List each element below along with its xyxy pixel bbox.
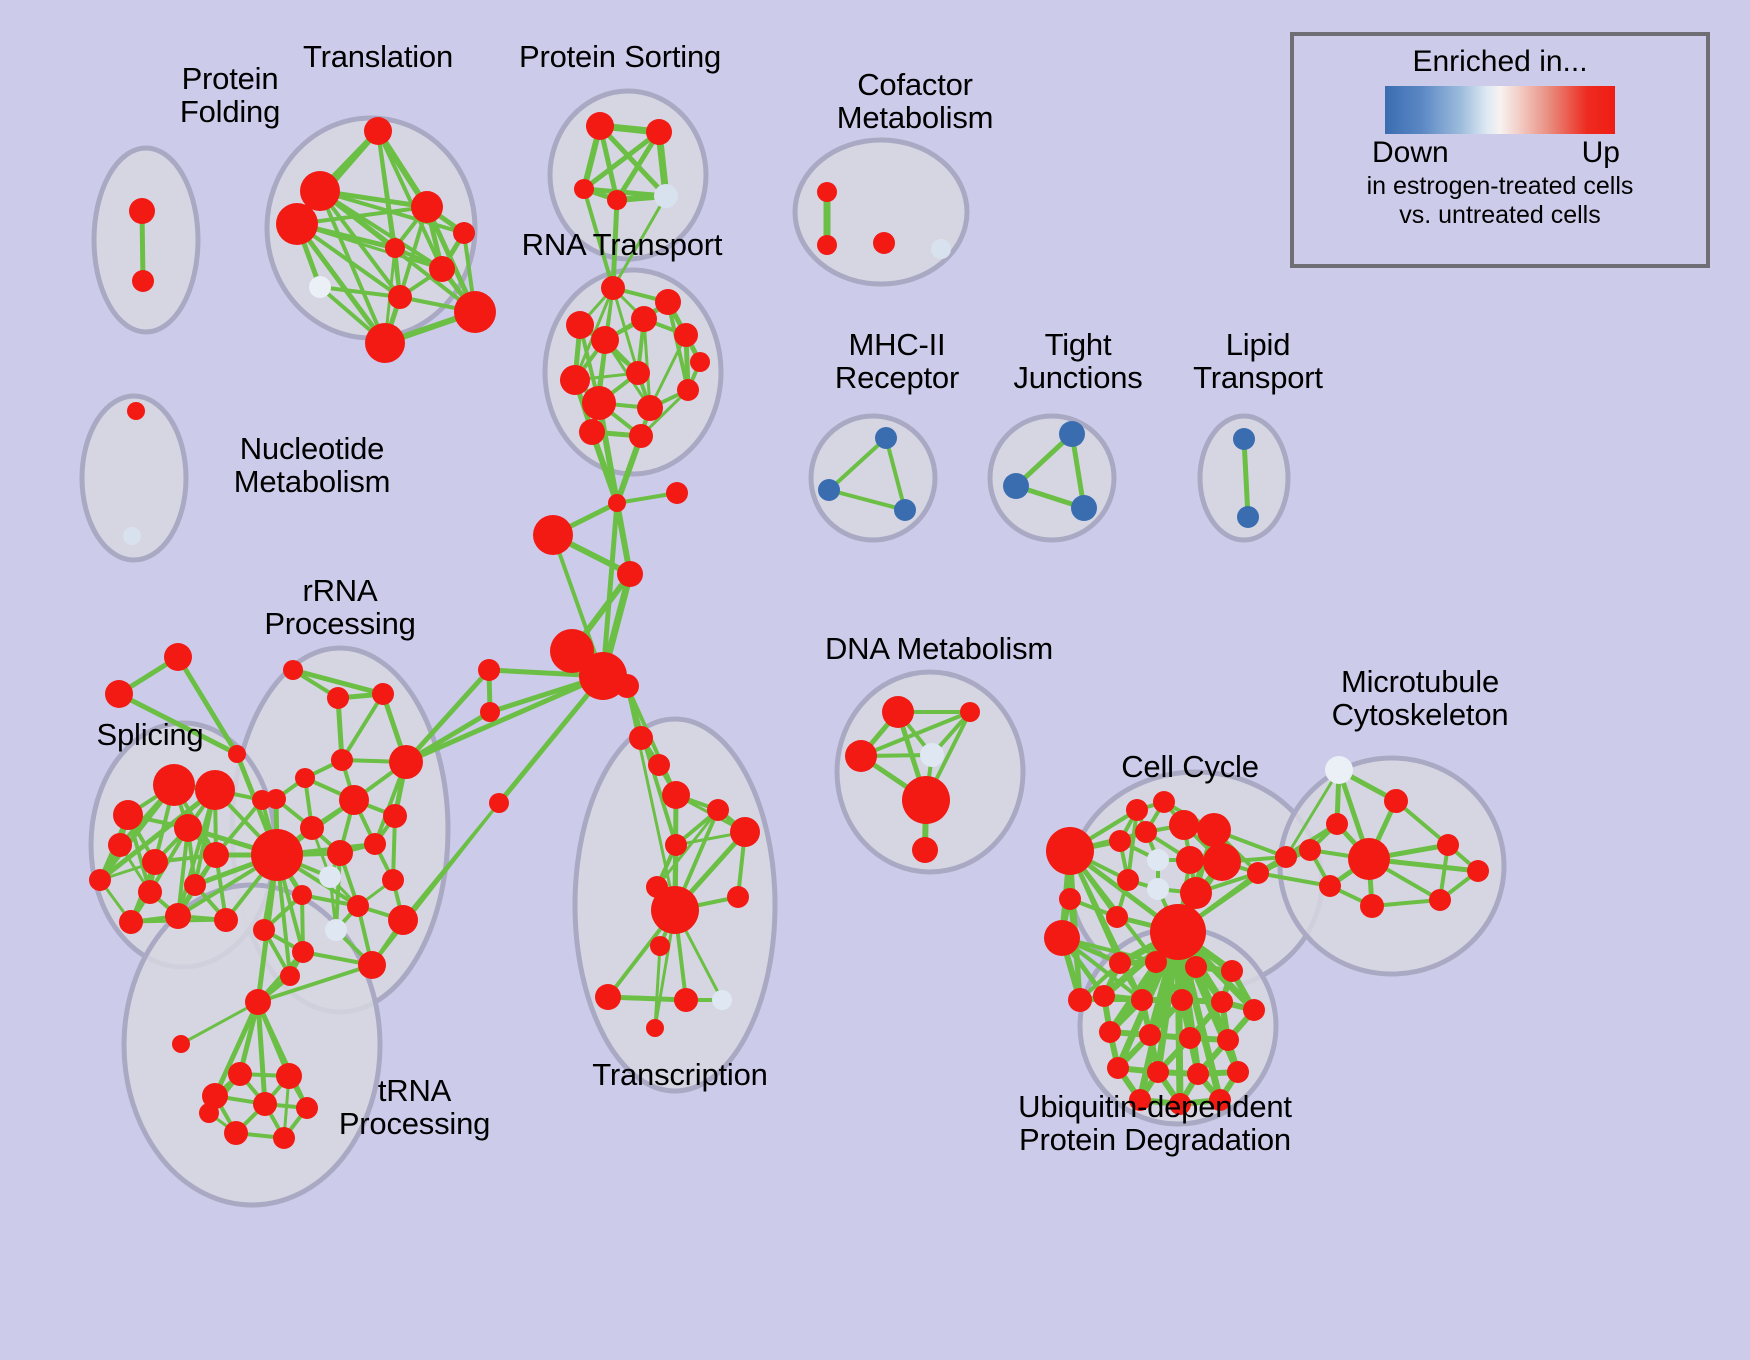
network-node[interactable] (727, 886, 749, 908)
network-node[interactable] (266, 789, 286, 809)
cluster-label-rrna-processing: rRNA Processing (240, 574, 440, 640)
network-node[interactable] (1429, 889, 1451, 911)
network-node[interactable] (654, 184, 678, 208)
network-node[interactable] (920, 743, 944, 767)
network-node[interactable] (153, 764, 195, 806)
network-node[interactable] (292, 941, 314, 963)
legend-subtitle-line2: vs. untreated cells (1294, 201, 1706, 230)
network-node[interactable] (601, 276, 625, 300)
network-node[interactable] (276, 1063, 302, 1089)
network-node[interactable] (666, 482, 688, 504)
network-node[interactable] (327, 840, 353, 866)
network-node[interactable] (1147, 849, 1169, 871)
network-node[interactable] (253, 919, 275, 941)
network-node[interactable] (1059, 888, 1081, 910)
network-node[interactable] (646, 119, 672, 145)
cluster-label-microtubule-cytoskeleton: Microtubule Cytoskeleton (1300, 665, 1540, 731)
network-node[interactable] (383, 804, 407, 828)
network-node[interactable] (1107, 1057, 1129, 1079)
network-node[interactable] (273, 1127, 295, 1149)
network-node[interactable] (629, 726, 653, 750)
network-node[interactable] (300, 171, 340, 211)
network-node[interactable] (142, 849, 168, 875)
legend-color-gradient-bar (1385, 86, 1615, 134)
network-node[interactable] (1145, 951, 1167, 973)
network-node[interactable] (818, 479, 840, 501)
cluster-label-rna-transport: RNA Transport (506, 228, 738, 261)
legend-endpoints: Down Up (1372, 136, 1628, 172)
network-node[interactable] (1203, 843, 1241, 881)
network-node[interactable] (817, 182, 837, 202)
network-node[interactable] (1467, 860, 1489, 882)
network-node[interactable] (582, 386, 616, 420)
network-node[interactable] (1326, 813, 1348, 835)
network-node[interactable] (1319, 875, 1341, 897)
network-node[interactable] (113, 800, 143, 830)
network-node[interactable] (382, 869, 404, 891)
network-node[interactable] (1217, 1029, 1239, 1051)
network-node[interactable] (637, 395, 663, 421)
cluster-label-lipid-transport: Lipid Transport (1163, 328, 1353, 394)
network-node[interactable] (690, 352, 710, 372)
network-node[interactable] (300, 816, 324, 840)
legend-subtitle-line1: in estrogen-treated cells (1294, 172, 1706, 201)
network-node[interactable] (1135, 821, 1157, 843)
network-node[interactable] (648, 754, 670, 776)
cluster-label-dna-metabolism: DNA Metabolism (814, 632, 1064, 665)
network-node[interactable] (665, 834, 687, 856)
network-node[interactable] (347, 895, 369, 917)
network-node[interactable] (203, 842, 229, 868)
network-node[interactable] (478, 659, 500, 681)
network-node[interactable] (108, 833, 132, 857)
network-node[interactable] (365, 323, 405, 363)
network-node[interactable] (195, 770, 235, 810)
network-node[interactable] (228, 1062, 252, 1086)
network-node[interactable] (894, 499, 916, 521)
network-node[interactable] (1139, 1024, 1161, 1046)
network-node[interactable] (388, 285, 412, 309)
network-node[interactable] (388, 905, 418, 935)
network-node[interactable] (105, 680, 133, 708)
network-node[interactable] (214, 908, 238, 932)
network-node[interactable] (1068, 988, 1092, 1012)
network-node[interactable] (902, 776, 950, 824)
network-node[interactable] (1147, 878, 1169, 900)
network-node[interactable] (489, 793, 509, 813)
network-node[interactable] (1117, 869, 1139, 891)
network-node[interactable] (372, 683, 394, 705)
network-node[interactable] (1059, 421, 1085, 447)
network-node[interactable] (1384, 789, 1408, 813)
network-node[interactable] (817, 235, 837, 255)
cluster-label-mhc-ii-receptor: MHC-II Receptor (802, 328, 992, 394)
network-node[interactable] (292, 885, 312, 905)
network-node[interactable] (1109, 830, 1131, 852)
halo-mhc-ii (811, 416, 935, 540)
network-node[interactable] (309, 276, 331, 298)
network-node[interactable] (1211, 991, 1233, 1013)
network-node[interactable] (358, 951, 386, 979)
legend-panel: Enriched in... Down Up in estrogen-treat… (1290, 32, 1710, 268)
network-node[interactable] (389, 745, 423, 779)
network-node[interactable] (912, 837, 938, 863)
network-node[interactable] (385, 238, 405, 258)
network-node[interactable] (123, 527, 141, 545)
network-node[interactable] (586, 112, 614, 140)
network-node[interactable] (319, 866, 341, 888)
network-node[interactable] (1169, 810, 1199, 840)
cluster-label-cofactor-metabolism: Cofactor Metabolism (800, 68, 1030, 134)
network-node[interactable] (245, 989, 271, 1015)
halo-cofactor-metabolism (795, 140, 967, 284)
network-node[interactable] (677, 379, 699, 401)
network-node[interactable] (429, 256, 455, 282)
network-node[interactable] (138, 880, 162, 904)
network-node[interactable] (1147, 1061, 1169, 1083)
network-node[interactable] (1099, 1021, 1121, 1043)
network-node[interactable] (674, 988, 698, 1012)
network-node[interactable] (875, 427, 897, 449)
network-node[interactable] (1227, 1061, 1249, 1083)
network-node[interactable] (1131, 989, 1153, 1011)
network-node[interactable] (280, 966, 300, 986)
network-node[interactable] (615, 674, 639, 698)
network-node[interactable] (608, 494, 626, 512)
halo-protein-folding (94, 148, 198, 332)
network-node[interactable] (845, 740, 877, 772)
network-node[interactable] (339, 785, 369, 815)
network-node[interactable] (882, 696, 914, 728)
network-node[interactable] (1071, 495, 1097, 521)
network-node[interactable] (1360, 894, 1384, 918)
network-node[interactable] (325, 919, 347, 941)
network-node[interactable] (1275, 846, 1297, 868)
network-node[interactable] (730, 817, 760, 847)
network-node[interactable] (574, 179, 594, 199)
network-node[interactable] (129, 198, 155, 224)
cluster-label-trna-processing: tRNA Processing (307, 1074, 522, 1140)
network-node[interactable] (1197, 813, 1231, 847)
network-node[interactable] (276, 203, 318, 245)
network-node[interactable] (1046, 827, 1094, 875)
network-node[interactable] (1243, 999, 1265, 1021)
network-node[interactable] (560, 365, 590, 395)
network-node[interactable] (1437, 834, 1459, 856)
network-node[interactable] (712, 990, 732, 1010)
cluster-label-nucleotide-metabolism: Nucleotide Metabolism (197, 432, 427, 498)
network-node[interactable] (1299, 839, 1321, 861)
network-node[interactable] (327, 687, 349, 709)
network-node[interactable] (164, 643, 192, 671)
network-node[interactable] (172, 1035, 190, 1053)
network-node[interactable] (480, 702, 500, 722)
network-node[interactable] (579, 419, 605, 445)
network-node[interactable] (174, 814, 202, 842)
network-node[interactable] (1180, 877, 1212, 909)
legend-up-label: Up (1582, 136, 1620, 170)
cluster-label-transcription: Transcription (570, 1058, 790, 1091)
network-node[interactable] (650, 936, 670, 956)
network-node[interactable] (364, 117, 392, 145)
network-node[interactable] (662, 781, 690, 809)
network-node[interactable] (89, 869, 111, 891)
network-node[interactable] (253, 1092, 277, 1116)
network-node[interactable] (119, 910, 143, 934)
network-node[interactable] (165, 903, 191, 929)
network-node[interactable] (646, 1019, 664, 1037)
network-node[interactable] (364, 833, 386, 855)
legend-down-label: Down (1372, 136, 1449, 170)
network-node[interactable] (1003, 473, 1029, 499)
network-node[interactable] (1126, 799, 1148, 821)
network-node[interactable] (674, 323, 698, 347)
network-node[interactable] (224, 1121, 248, 1145)
network-node[interactable] (1348, 838, 1390, 880)
network-node[interactable] (453, 222, 475, 244)
network-node[interactable] (1185, 956, 1207, 978)
network-node[interactable] (1233, 428, 1255, 450)
network-node[interactable] (283, 660, 303, 680)
network-node[interactable] (1237, 506, 1259, 528)
network-node[interactable] (629, 424, 653, 448)
network-node[interactable] (595, 984, 621, 1010)
cluster-label-protein-sorting: Protein Sorting (500, 40, 740, 73)
cluster-label-ubiquitin-protein-degradation: Ubiquitin-dependent Protein Degradation (995, 1090, 1315, 1156)
network-node[interactable] (873, 232, 895, 254)
network-node[interactable] (1109, 952, 1131, 974)
network-node[interactable] (655, 289, 681, 315)
network-node[interactable] (1176, 846, 1204, 874)
cluster-label-cell-cycle: Cell Cycle (1095, 750, 1285, 783)
network-node[interactable] (607, 190, 627, 210)
network-node[interactable] (931, 239, 951, 259)
network-node[interactable] (960, 702, 980, 722)
network-node[interactable] (626, 361, 650, 385)
network-node[interactable] (591, 326, 619, 354)
network-node[interactable] (1171, 989, 1193, 1011)
cluster-label-tight-junctions: Tight Junctions (983, 328, 1173, 394)
network-node[interactable] (1153, 791, 1175, 813)
network-node[interactable] (331, 749, 353, 771)
network-node[interactable] (566, 311, 594, 339)
network-node[interactable] (199, 1103, 219, 1123)
network-node[interactable] (1247, 862, 1269, 884)
legend-title: Enriched in... (1294, 45, 1706, 79)
network-node[interactable] (533, 515, 573, 555)
network-node[interactable] (617, 561, 643, 587)
network-node[interactable] (1221, 960, 1243, 982)
network-node[interactable] (651, 886, 699, 934)
network-node[interactable] (184, 874, 206, 896)
network-node[interactable] (1044, 920, 1080, 956)
network-figure: Protein FoldingTranslationProtein Sortin… (0, 0, 1750, 1360)
network-node[interactable] (1179, 1027, 1201, 1049)
cluster-label-translation: Translation (283, 40, 473, 73)
network-node[interactable] (295, 768, 315, 788)
network-node[interactable] (1325, 756, 1353, 784)
network-node[interactable] (127, 402, 145, 420)
network-node[interactable] (631, 306, 657, 332)
network-node[interactable] (707, 799, 729, 821)
network-node[interactable] (411, 191, 443, 223)
network-node[interactable] (251, 829, 303, 881)
cluster-label-splicing: Splicing (60, 718, 240, 751)
network-node[interactable] (1093, 985, 1115, 1007)
network-node[interactable] (1106, 906, 1128, 928)
network-node[interactable] (454, 291, 496, 333)
network-node[interactable] (1187, 1063, 1209, 1085)
network-node[interactable] (132, 270, 154, 292)
